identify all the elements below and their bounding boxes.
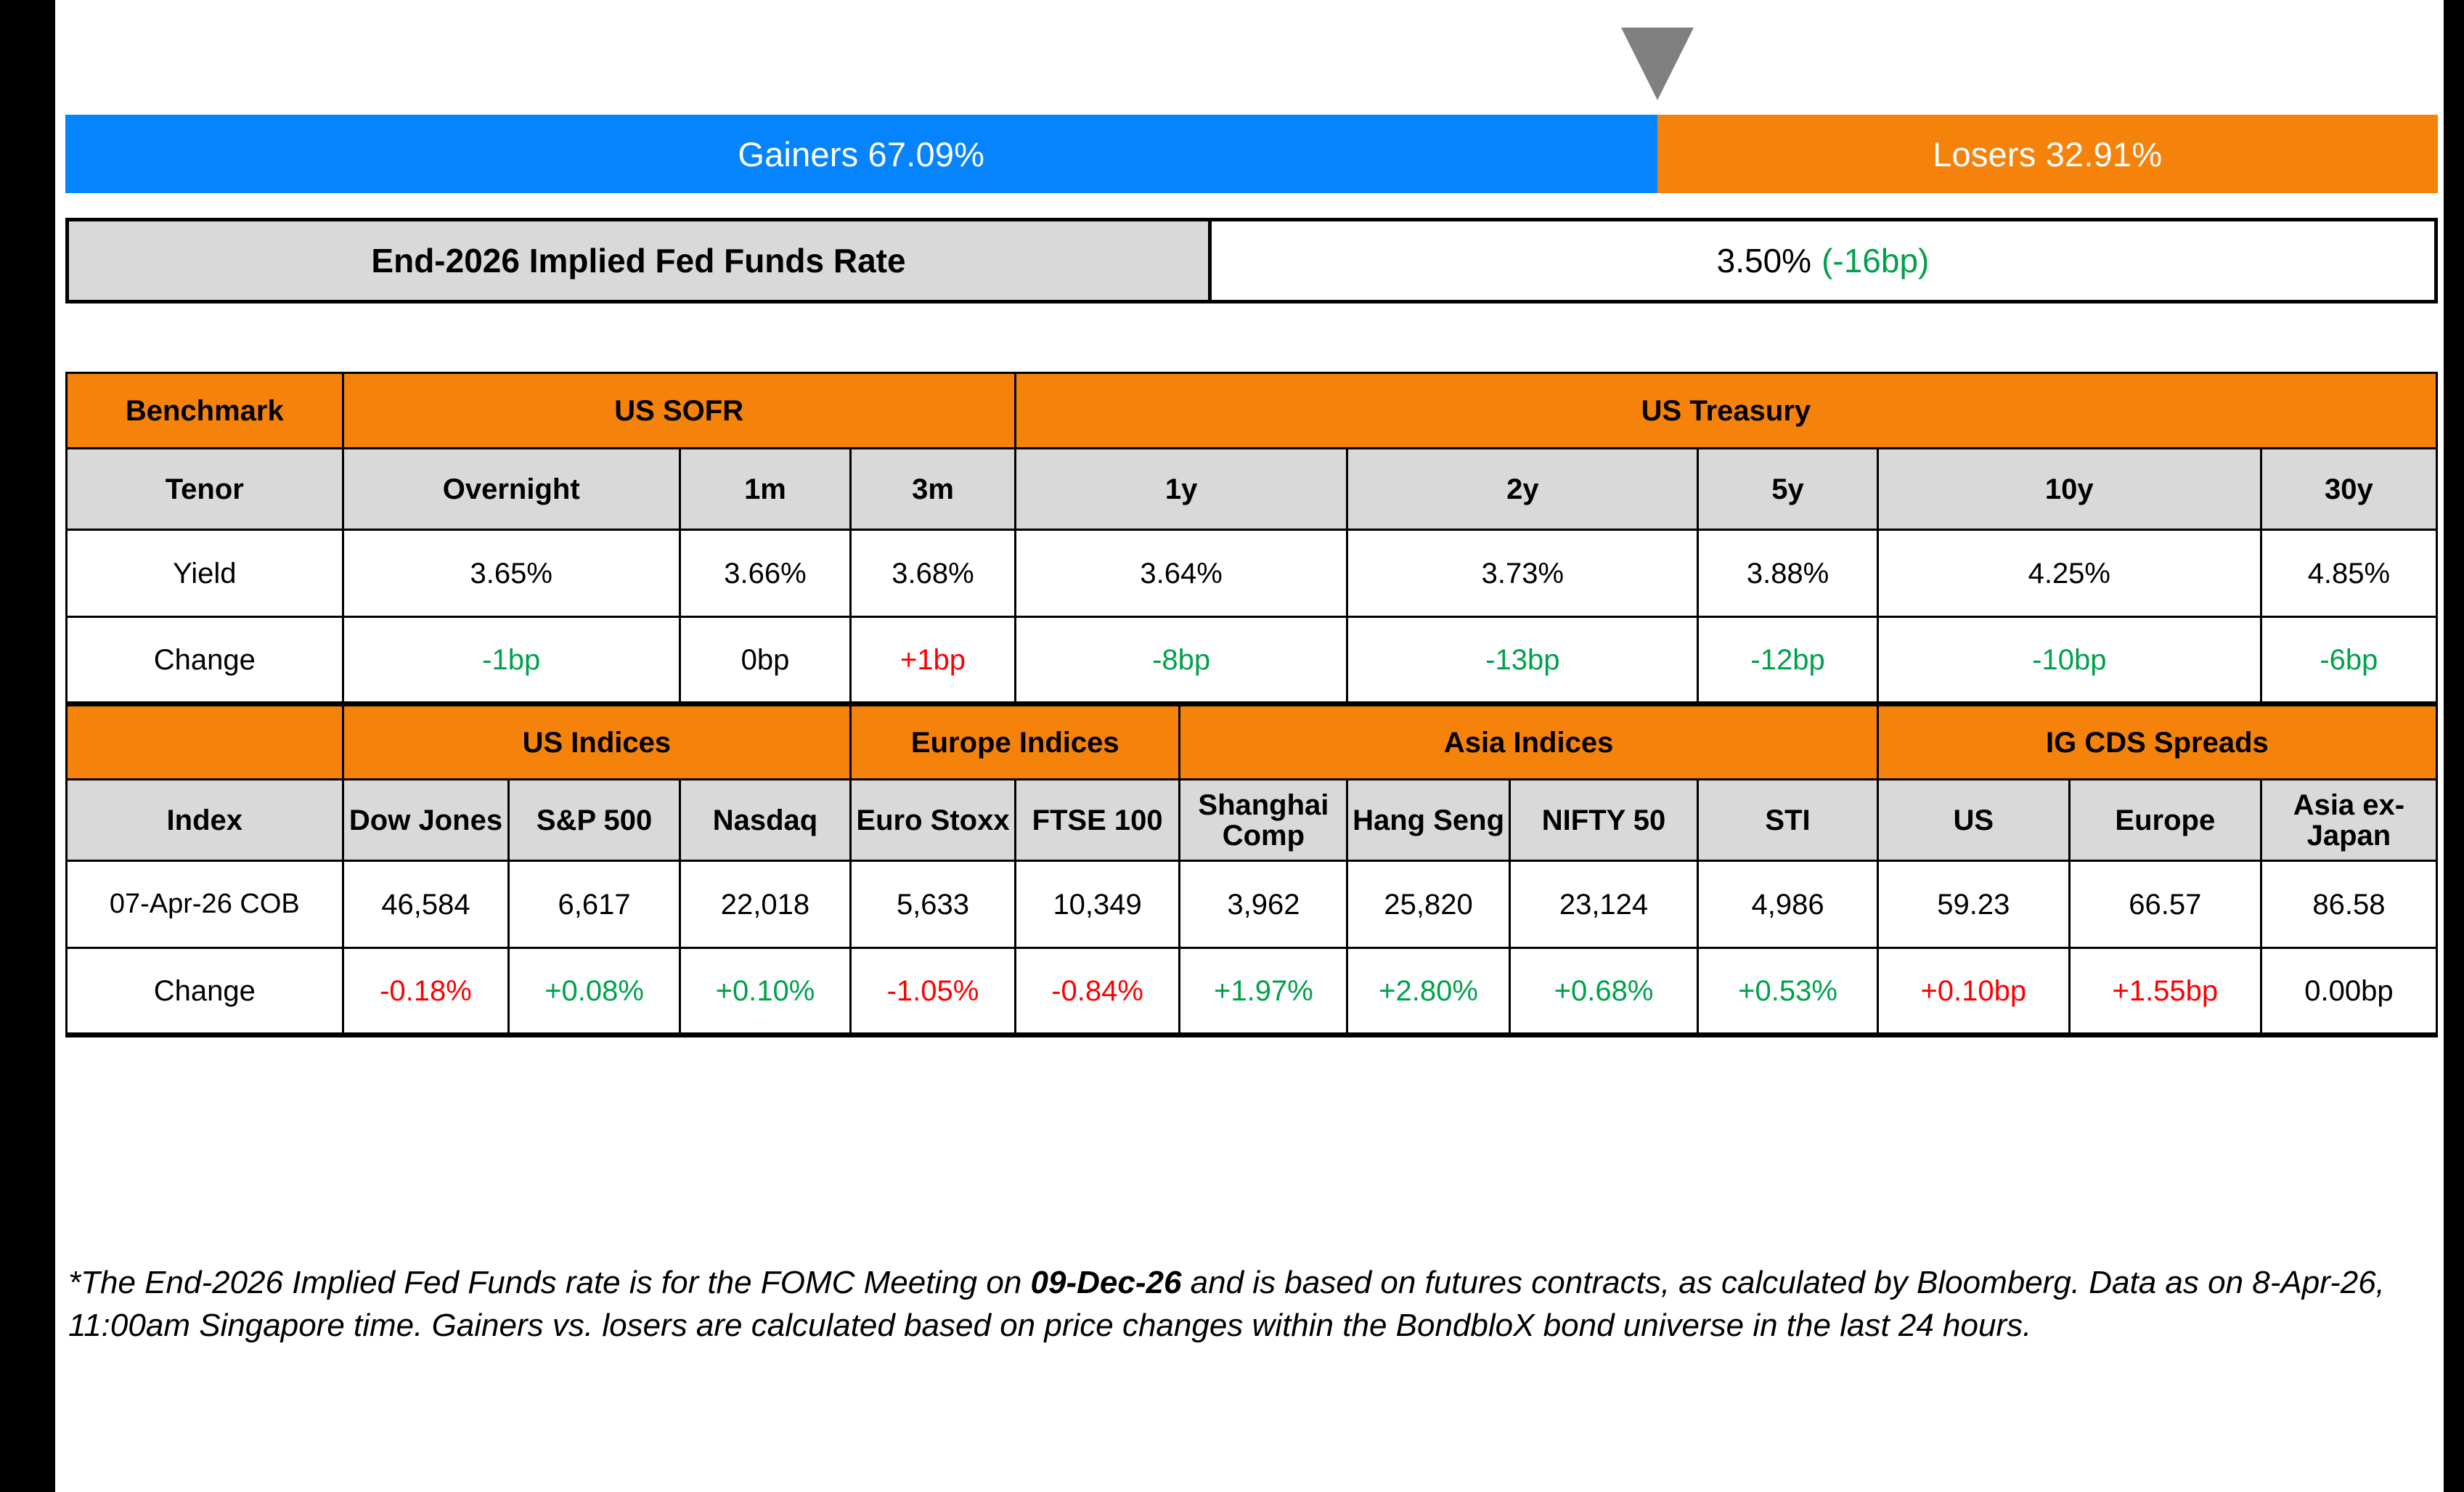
gainers-label: Gainers 67.09% (738, 134, 984, 174)
index-col-header-5: Shanghai Comp (1180, 780, 1347, 861)
index-col-header-8: STI (1698, 780, 1878, 861)
tenor-cell-7: 30y (2261, 449, 2436, 530)
yield-row: Yield3.65%3.66%3.68%3.64%3.73%3.88%4.25%… (67, 530, 2437, 617)
tenor-row: TenorOvernight1m3m1y2y5y10y30y (67, 449, 2437, 530)
tenor-cell-5: 5y (1698, 449, 1878, 530)
market-summary-page: Gainers 67.09% Losers 32.91% End-2026 Im… (0, 0, 2464, 1492)
fed-funds-change: (-16bp) (1822, 241, 1929, 280)
group-header-ig-cds-spreads: IG CDS Spreads (1877, 704, 2436, 780)
split-marker-triangle-icon (1621, 28, 1694, 100)
index-change-5: +1.97% (1180, 948, 1347, 1035)
rate-change-cell-7: -6bp (2261, 617, 2436, 704)
cob-label-cell: 07-Apr-26 COB (67, 861, 343, 948)
cob-value-9: 59.23 (1877, 861, 2069, 948)
market-data-grid: BenchmarkUS SOFRUS Treasury TenorOvernig… (65, 372, 2438, 1038)
rate-change-label-cell: Change (67, 617, 343, 704)
tenor-cell-2: 3m (851, 449, 1016, 530)
rate-change-cell-2: +1bp (851, 617, 1016, 704)
indices-group-row: US IndicesEurope IndicesAsia IndicesIG C… (67, 704, 2437, 780)
group-header-us-sofr: US SOFR (343, 373, 1015, 449)
indices-band-spacer (67, 704, 343, 780)
index-change-6: +2.80% (1347, 948, 1509, 1035)
index-col-header-10: Europe (2069, 780, 2261, 861)
left-black-rail (0, 0, 55, 1492)
footnote-date: 09-Dec-26 (1031, 1265, 1182, 1300)
rate-change-cell-0: -1bp (343, 617, 680, 704)
index-change-2: +0.10% (680, 948, 850, 1035)
yield-cell-3: 3.64% (1015, 530, 1347, 617)
yield-cell-4: 3.73% (1347, 530, 1698, 617)
cob-value-2: 22,018 (680, 861, 850, 948)
index-col-header-9: US (1877, 780, 2069, 861)
gainers-losers-bar: Gainers 67.09% Losers 32.91% (65, 115, 2438, 193)
yield-cell-1: 3.66% (680, 530, 850, 617)
index-header-row: IndexDow JonesS&P 500NasdaqEuro StoxxFTS… (67, 780, 2437, 861)
index-change-4: -0.84% (1015, 948, 1180, 1035)
tenor-cell-4: 2y (1347, 449, 1698, 530)
index-cob-row: 07-Apr-26 COB46,5846,61722,0185,63310,34… (67, 861, 2437, 948)
index-change-1: +0.08% (509, 948, 680, 1035)
cob-value-4: 10,349 (1015, 861, 1180, 948)
group-header-us-indices: US Indices (343, 704, 851, 780)
index-change-0: -0.18% (343, 948, 509, 1035)
footnote: *The End-2026 Implied Fed Funds rate is … (68, 1262, 2399, 1348)
losers-label: Losers 32.91% (1933, 134, 2162, 174)
index-change-3: -1.05% (851, 948, 1016, 1035)
footnote-part1: *The End-2026 Implied Fed Funds rate is … (68, 1265, 1031, 1300)
index-change-11: 0.00bp (2261, 948, 2436, 1035)
index-col-header-7: NIFTY 50 (1509, 780, 1698, 861)
benchmark-group-row: BenchmarkUS SOFRUS Treasury (67, 373, 2437, 449)
rate-change-row: Change-1bp0bp+1bp-8bp-13bp-12bp-10bp-6bp (67, 617, 2437, 704)
cob-value-10: 66.57 (2069, 861, 2261, 948)
cob-value-5: 3,962 (1180, 861, 1347, 948)
yield-cell-6: 4.25% (1877, 530, 2261, 617)
index-change-7: +0.68% (1509, 948, 1698, 1035)
yield-cell-0: 3.65% (343, 530, 680, 617)
index-change-row: Change-0.18%+0.08%+0.10%-1.05%-0.84%+1.9… (67, 948, 2437, 1035)
yield-cell-2: 3.68% (851, 530, 1016, 617)
group-header-asia-indices: Asia Indices (1180, 704, 1877, 780)
rate-change-cell-6: -10bp (1877, 617, 2261, 704)
rate-change-cell-5: -12bp (1698, 617, 1878, 704)
tenor-label-cell: Tenor (67, 449, 343, 530)
tenor-cell-3: 1y (1015, 449, 1347, 530)
cob-value-7: 23,124 (1509, 861, 1698, 948)
marker-row (65, 0, 2438, 115)
rate-change-cell-3: -8bp (1015, 617, 1347, 704)
content-area: Gainers 67.09% Losers 32.91% End-2026 Im… (65, 0, 2438, 1492)
group-header-europe-indices: Europe Indices (851, 704, 1180, 780)
index-col-header-0: Dow Jones (343, 780, 509, 861)
index-col-header-6: Hang Seng (1347, 780, 1509, 861)
benchmark-header-cell: Benchmark (67, 373, 343, 449)
fed-funds-value-cell: 3.50% (-16bp) (1212, 221, 2434, 300)
cob-value-8: 4,986 (1698, 861, 1878, 948)
index-col-header-2: Nasdaq (680, 780, 850, 861)
index-col-header-11: Asia ex-Japan (2261, 780, 2436, 861)
rate-change-cell-1: 0bp (680, 617, 850, 704)
fed-funds-rate: 3.50% (1717, 241, 1811, 280)
right-black-rail (2444, 0, 2464, 1492)
index-change-9: +0.10bp (1877, 948, 2069, 1035)
tenor-cell-6: 10y (1877, 449, 2261, 530)
cob-value-3: 5,633 (851, 861, 1016, 948)
losers-segment: Losers 32.91% (1657, 115, 2438, 193)
cob-value-1: 6,617 (509, 861, 680, 948)
rate-change-cell-4: -13bp (1347, 617, 1698, 704)
yield-cell-7: 4.85% (2261, 530, 2436, 617)
fed-funds-label: End-2026 Implied Fed Funds Rate (69, 221, 1212, 300)
index-change-10: +1.55bp (2069, 948, 2261, 1035)
yield-label-cell: Yield (67, 530, 343, 617)
cob-value-6: 25,820 (1347, 861, 1509, 948)
index-col-header-4: FTSE 100 (1015, 780, 1180, 861)
index-col-header-3: Euro Stoxx (851, 780, 1016, 861)
yield-cell-5: 3.88% (1698, 530, 1878, 617)
tenor-cell-1: 1m (680, 449, 850, 530)
fed-funds-strip: End-2026 Implied Fed Funds Rate 3.50% (-… (65, 218, 2438, 303)
index-col-header-1: S&P 500 (509, 780, 680, 861)
index-change-label-cell: Change (67, 948, 343, 1035)
gainers-segment: Gainers 67.09% (65, 115, 1657, 193)
index-change-8: +0.53% (1698, 948, 1878, 1035)
cob-value-0: 46,584 (343, 861, 509, 948)
cob-value-11: 86.58 (2261, 861, 2436, 948)
index-label-cell: Index (67, 780, 343, 861)
group-header-us-treasury: US Treasury (1015, 373, 2436, 449)
tenor-cell-0: Overnight (343, 449, 680, 530)
